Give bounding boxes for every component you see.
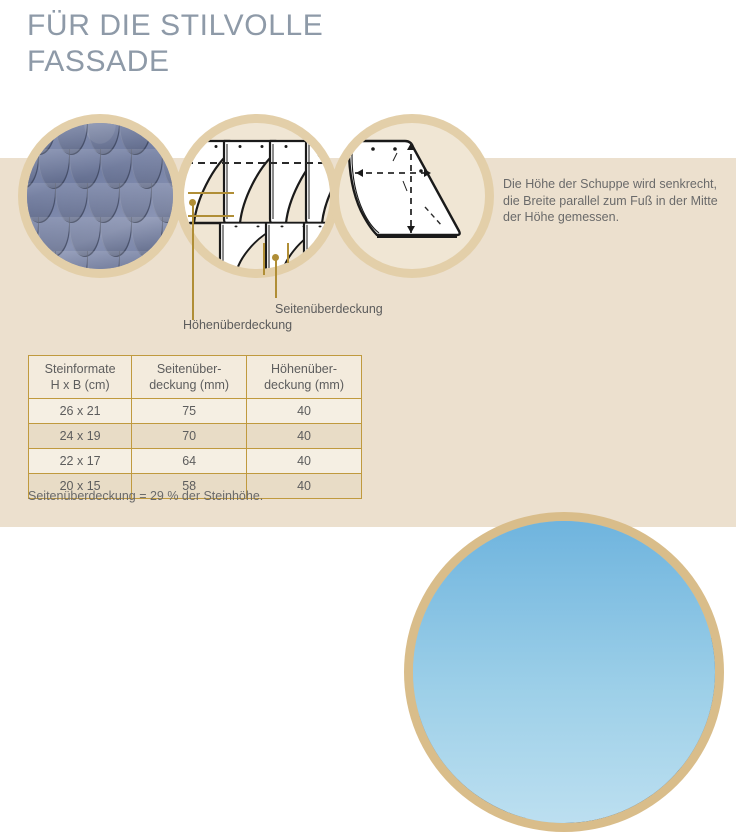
single-scale-diagram-canvas: [339, 123, 485, 269]
table-header-line: deckung (mm): [264, 378, 344, 392]
table-cell: 40: [247, 474, 362, 499]
table-header-line: Steinformate: [45, 362, 116, 376]
callout-label-height-overlap: Höhenüberdeckung: [183, 318, 292, 332]
figure-slate-facade-photo: [18, 114, 182, 278]
table-cell: 75: [132, 399, 247, 424]
description-text: Die Höhe der Schuppe wird senkrecht, die…: [503, 176, 725, 226]
table-row: 26 x 21 75 40: [29, 399, 362, 424]
leader-line-side-vertical: [275, 258, 277, 298]
leader-line-height-vertical: [192, 203, 194, 320]
leader-tick-side-right: [287, 243, 289, 263]
table-cell: 24 x 19: [29, 424, 132, 449]
table-cell: 64: [132, 449, 247, 474]
table-header-row: Steinformate H x B (cm) Seitenüber- deck…: [29, 356, 362, 399]
callout-label-side-overlap: Seitenüberdeckung: [275, 302, 383, 316]
table-cell: 22 x 17: [29, 449, 132, 474]
table-cell: 26 x 21: [29, 399, 132, 424]
single-scale-diagram-svg: [339, 123, 485, 269]
slate-roof-image: [413, 521, 715, 823]
figure-single-scale-diagram: [330, 114, 494, 278]
slate-scale-rows: [27, 123, 173, 269]
spec-table: Steinformate H x B (cm) Seitenüber- deck…: [28, 355, 362, 499]
table-header-line: deckung (mm): [149, 378, 229, 392]
table-header-line: Höhenüber-: [271, 362, 337, 376]
table-cell: 40: [247, 399, 362, 424]
table-row: 22 x 17 64 40: [29, 449, 362, 474]
table-cell: 70: [132, 424, 247, 449]
figure-slate-roof-photo: [404, 512, 724, 832]
table-row: 24 x 19 70 40: [29, 424, 362, 449]
table-header-cell: Höhenüber- deckung (mm): [247, 356, 362, 399]
slate-row: [27, 251, 173, 269]
leader-tick-side-left: [263, 243, 265, 275]
page-title-line1: FÜR DIE STILVOLLE: [27, 9, 323, 42]
slate-facade-image: [27, 123, 173, 269]
page-title: FÜR DIE STILVOLLE FASSADE: [27, 8, 447, 80]
overlap-diagram-canvas: [184, 123, 330, 269]
table-header-cell: Seitenüber- deckung (mm): [132, 356, 247, 399]
table-cell: 40: [247, 449, 362, 474]
page-title-line2: FASSADE: [27, 44, 447, 80]
table-note: Seitenüberdeckung = 29 % der Steinhöhe.: [28, 489, 263, 503]
table-cell: 40: [247, 424, 362, 449]
overlap-diagram-svg: [184, 123, 330, 269]
leader-line-height-bottom: [188, 215, 234, 217]
table-header-line: Seitenüber-: [157, 362, 222, 376]
table-header-line: H x B (cm): [51, 378, 110, 392]
table-header-cell: Steinformate H x B (cm): [29, 356, 132, 399]
figure-overlap-diagram: [175, 114, 339, 278]
sky-background: [413, 521, 715, 823]
leader-line-height-top: [188, 192, 234, 194]
